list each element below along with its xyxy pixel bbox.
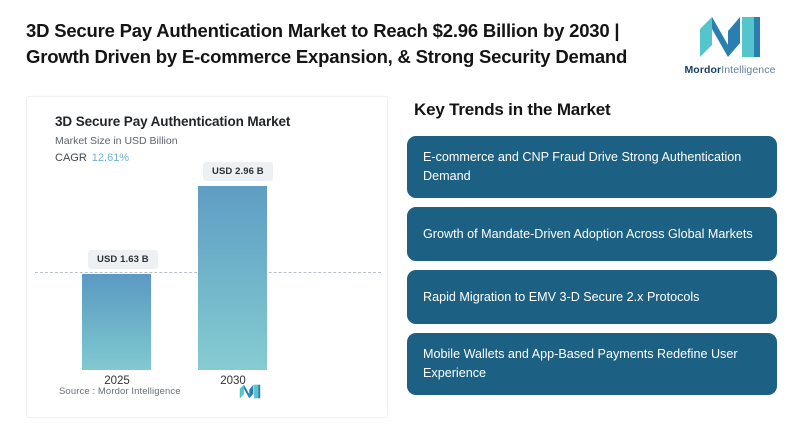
source-mordor-mi-logo-icon (239, 384, 261, 399)
key-trends-panel: Key Trends in the Market E-commerce and … (407, 100, 777, 404)
chart-source: Source : Mordor Intelligence (59, 386, 181, 397)
mordor-mi-logo-icon (698, 15, 762, 59)
trend-card[interactable]: Growth of Mandate-Driven Adoption Across… (407, 207, 777, 261)
brand-logo: MordorIntelligence (678, 15, 782, 76)
bar-value-label-2025: USD 1.63 B (88, 250, 158, 269)
page-title: 3D Secure Pay Authentication Market to R… (26, 18, 678, 70)
trend-card[interactable]: Rapid Migration to EMV 3-D Secure 2.x Pr… (407, 270, 777, 324)
brand-name-light: Intelligence (721, 64, 775, 76)
trend-card-text: Growth of Mandate-Driven Adoption Across… (423, 225, 753, 244)
key-trends-heading: Key Trends in the Market (414, 100, 777, 120)
page-header: 3D Secure Pay Authentication Market to R… (0, 0, 800, 88)
bar-2025 (82, 274, 151, 370)
trend-card-text: Mobile Wallets and App-Based Payments Re… (423, 345, 761, 383)
trend-card-text: E-commerce and CNP Fraud Drive Strong Au… (423, 148, 761, 186)
brand-name-bold: Mordor (684, 64, 721, 76)
trend-card-text: Rapid Migration to EMV 3-D Secure 2.x Pr… (423, 288, 699, 307)
bar-2030 (198, 186, 267, 370)
headline-line-2: Growth Driven by E-commerce Expansion, &… (26, 44, 678, 70)
brand-logo-wordmark: MordorIntelligence (684, 64, 775, 76)
chart-card: 3D Secure Pay Authentication Market Mark… (26, 96, 388, 418)
headline-line-1: 3D Secure Pay Authentication Market to R… (26, 18, 678, 44)
trend-card[interactable]: Mobile Wallets and App-Based Payments Re… (407, 333, 777, 395)
x-axis-label-2030: 2030 (188, 375, 278, 387)
bar-value-label-2030: USD 2.96 B (203, 162, 273, 181)
trend-card[interactable]: E-commerce and CNP Fraud Drive Strong Au… (407, 136, 777, 198)
bar-chart-plot: USD 1.63 B 2025 USD 2.96 B 2030 (27, 97, 389, 419)
